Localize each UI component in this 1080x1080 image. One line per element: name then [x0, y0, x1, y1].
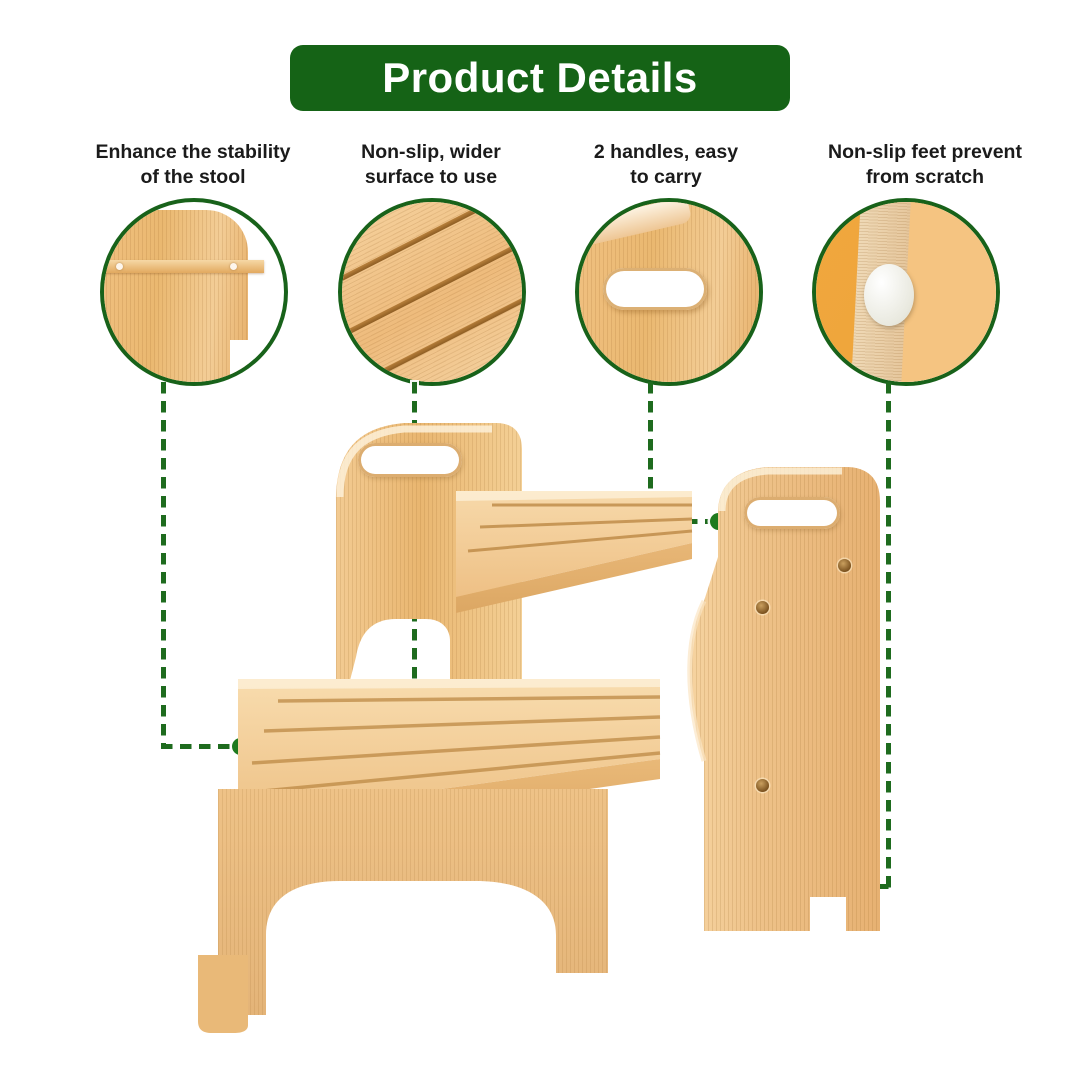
feature-caption-stability: Enhance the stability of the stool: [60, 140, 326, 190]
support-rail: [100, 260, 264, 273]
screw-lower-left: [756, 779, 769, 792]
left-handle-cutout: [358, 443, 462, 477]
rail-screw-hole-left: [116, 263, 123, 270]
caption-line-1: Non-slip feet prevent: [780, 140, 1070, 165]
page-title: Product Details: [382, 57, 698, 99]
feature-caption-non-slip-surface: Non-slip, wider surface to use: [318, 140, 544, 190]
detail-image-slat-surface: [342, 202, 522, 382]
detail-circle-non-slip-feet: [812, 198, 1000, 386]
bamboo-grain-overlay: [342, 202, 522, 382]
detail-circle-handles: [575, 198, 763, 386]
feature-caption-handles: 2 handles, easy to carry: [556, 140, 776, 190]
left-foot: [190, 955, 260, 1035]
handle-cutout: [603, 268, 707, 310]
feature-caption-non-slip-feet: Non-slip feet prevent from scratch: [780, 140, 1070, 190]
upper-step-group: [340, 485, 670, 635]
page-title-banner: Product Details: [290, 45, 790, 111]
panel-top-edge: [575, 198, 692, 250]
caption-line-1: Enhance the stability: [60, 140, 326, 165]
upper-step-surface: [340, 485, 700, 655]
detail-circle-non-slip-surface: [338, 198, 526, 386]
detail-image-foot-pad: [816, 202, 996, 382]
side-panel-shape: [100, 210, 248, 386]
caption-line-2: from scratch: [780, 165, 1070, 190]
caption-line-1: 2 handles, easy: [556, 140, 776, 165]
rail-screw-hole-right: [230, 263, 237, 270]
detail-image-handle: [579, 202, 759, 382]
screw-upper-right: [838, 559, 851, 572]
non-slip-foot-pad: [864, 264, 914, 326]
caption-line-2: of the stool: [60, 165, 326, 190]
detail-image-side-panel: [104, 202, 284, 382]
detail-circle-stability: [100, 198, 288, 386]
product-image-two-step-stool: [170, 395, 910, 1035]
infographic-canvas: Product Details Enhance the stability of…: [0, 0, 1080, 1080]
connector-segment-vertical: [161, 382, 166, 748]
right-handle-cutout: [744, 497, 840, 529]
caption-line-2: surface to use: [318, 165, 544, 190]
caption-line-1: Non-slip, wider: [318, 140, 544, 165]
screw-upper-left: [756, 601, 769, 614]
left-foot-shape: [190, 955, 260, 1035]
caption-line-2: to carry: [556, 165, 776, 190]
